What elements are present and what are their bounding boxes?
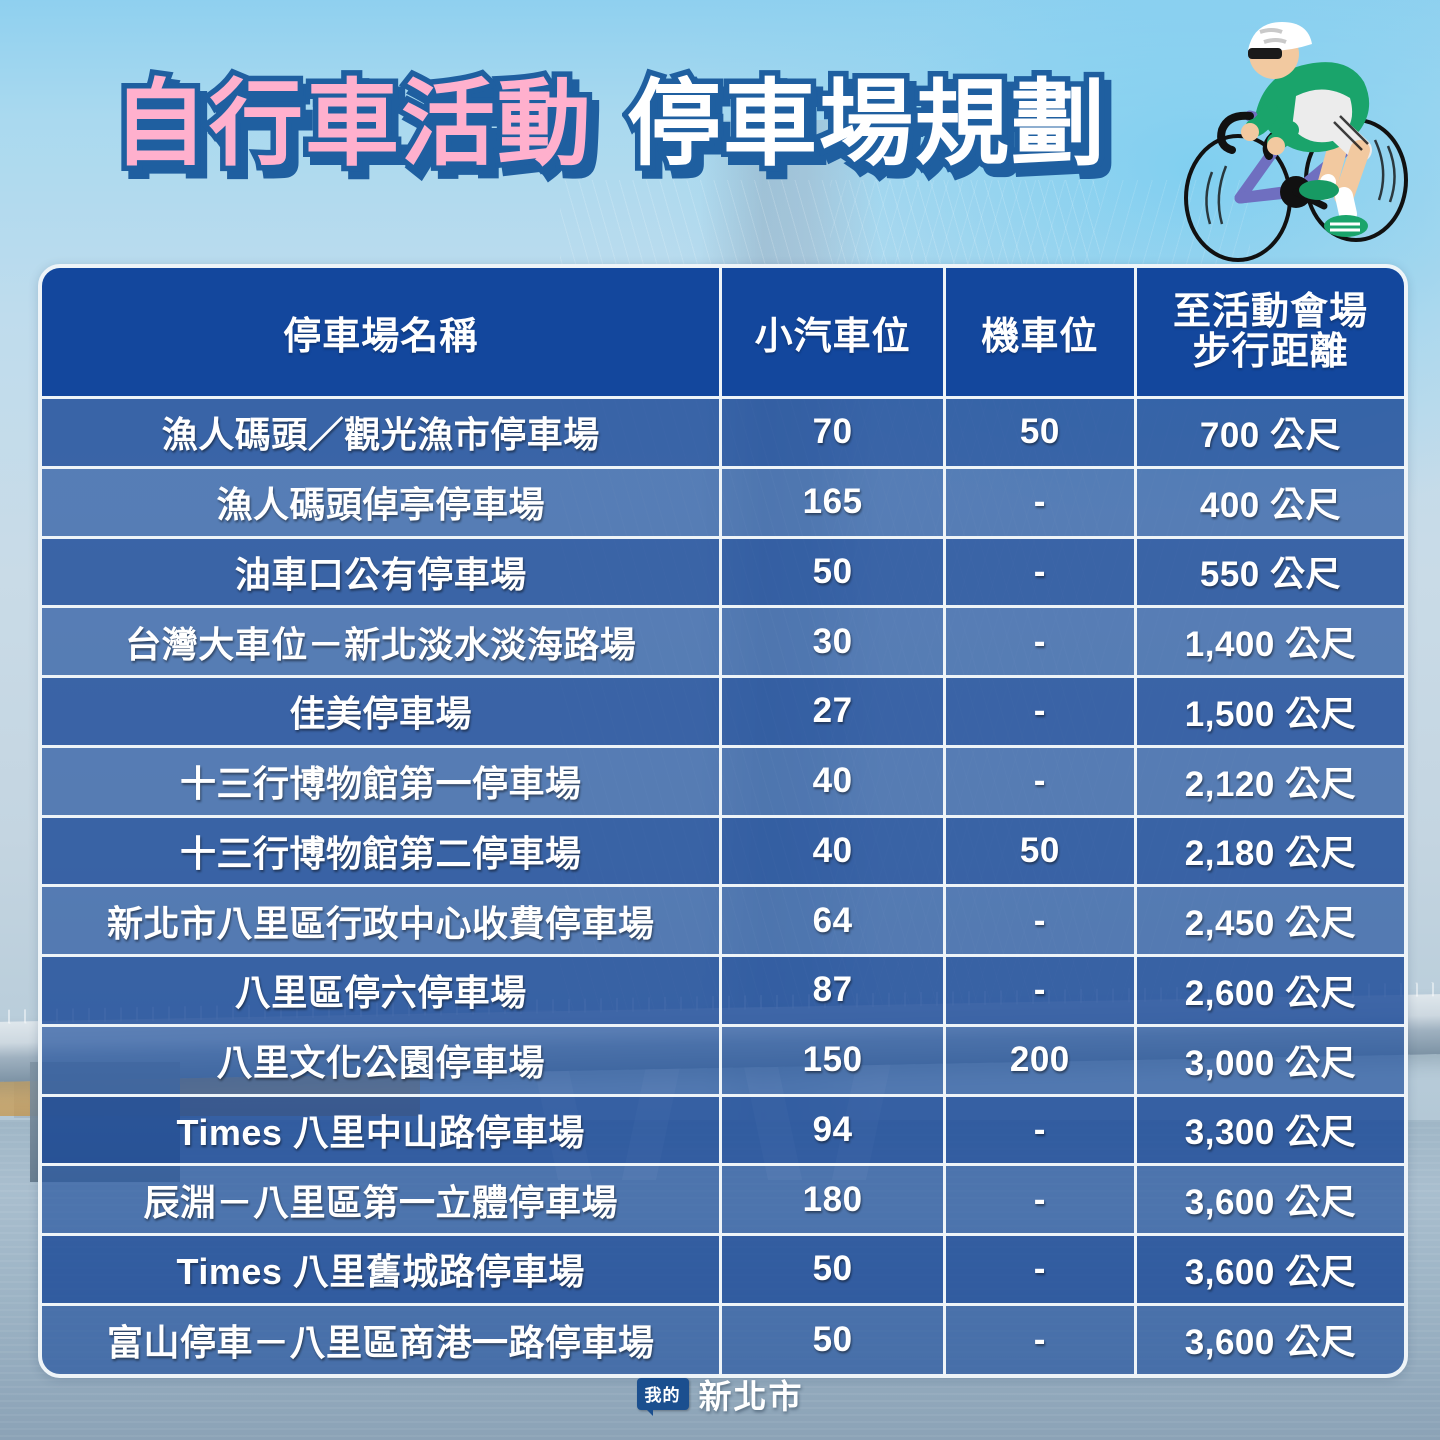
- parking-lot-name: 八里文化公園停車場: [42, 1025, 721, 1095]
- motorcycle-space-count: 200: [944, 1025, 1135, 1095]
- motorcycle-space-count: -: [944, 1095, 1135, 1165]
- car-space-count: 87: [721, 956, 944, 1026]
- column-header-name: 停車場名稱: [42, 268, 721, 398]
- walking-distance: 3,300 公尺: [1135, 1095, 1404, 1165]
- walking-distance-line2: 步行距離: [1138, 332, 1403, 372]
- car-space-count: 30: [721, 607, 944, 677]
- parking-lot-name: 十三行博物館第一停車場: [42, 746, 721, 816]
- title-part-parking: 停車場規劃: [627, 78, 1107, 172]
- table-header-row: 停車場名稱 小汽車位 機車位 至活動會場 步行距離: [42, 268, 1404, 398]
- parking-lot-table: 停車場名稱 小汽車位 機車位 至活動會場 步行距離 漁人碼頭／觀光漁市停車場70…: [38, 264, 1408, 1378]
- parking-lot-name: 十三行博物館第二停車場: [42, 816, 721, 886]
- column-header-motorcycle-spaces: 機車位: [944, 268, 1135, 398]
- table-row: 漁人碼頭倬亭停車場165-400 公尺: [42, 467, 1404, 537]
- walking-distance: 2,180 公尺: [1135, 816, 1404, 886]
- parking-lot-name: 台灣大車位－新北淡水淡海路場: [42, 607, 721, 677]
- table-row: 八里文化公園停車場1502003,000 公尺: [42, 1025, 1404, 1095]
- table-row: 新北市八里區行政中心收費停車場64-2,450 公尺: [42, 886, 1404, 956]
- table-row: 富山停車－八里區商港一路停車場50-3,600 公尺: [42, 1304, 1404, 1374]
- column-header-walking-distance: 至活動會場 步行距離: [1135, 268, 1404, 398]
- motorcycle-space-count: -: [944, 607, 1135, 677]
- motorcycle-space-count: -: [944, 1235, 1135, 1305]
- city-logo: 我的 新北市: [0, 1370, 1440, 1418]
- car-space-count: 94: [721, 1095, 944, 1165]
- parking-lot-name: 辰淵－八里區第一立體停車場: [42, 1165, 721, 1235]
- walking-distance: 2,600 公尺: [1135, 956, 1404, 1026]
- car-space-count: 165: [721, 467, 944, 537]
- car-space-count: 27: [721, 677, 944, 747]
- table-body: 漁人碼頭／觀光漁市停車場7050700 公尺漁人碼頭倬亭停車場165-400 公…: [42, 398, 1404, 1375]
- car-space-count: 64: [721, 886, 944, 956]
- motorcycle-space-count: 50: [944, 816, 1135, 886]
- motorcycle-space-count: 50: [944, 398, 1135, 468]
- parking-lot-name: Times 八里中山路停車場: [42, 1095, 721, 1165]
- table-row: 佳美停車場27-1,500 公尺: [42, 677, 1404, 747]
- walking-distance: 3,600 公尺: [1135, 1165, 1404, 1235]
- car-space-count: 50: [721, 537, 944, 607]
- table-row: Times 八里舊城路停車場50-3,600 公尺: [42, 1235, 1404, 1305]
- table-row: Times 八里中山路停車場94-3,300 公尺: [42, 1095, 1404, 1165]
- car-space-count: 70: [721, 398, 944, 468]
- column-header-car-spaces: 小汽車位: [721, 268, 944, 398]
- table-row: 台灣大車位－新北淡水淡海路場30-1,400 公尺: [42, 607, 1404, 677]
- table-row: 辰淵－八里區第一立體停車場180-3,600 公尺: [42, 1165, 1404, 1235]
- walking-distance: 1,400 公尺: [1135, 607, 1404, 677]
- car-space-count: 40: [721, 746, 944, 816]
- walking-distance: 550 公尺: [1135, 537, 1404, 607]
- motorcycle-space-count: -: [944, 956, 1135, 1026]
- parking-lot-name: 漁人碼頭／觀光漁市停車場: [42, 398, 721, 468]
- parking-lot-name: 佳美停車場: [42, 677, 721, 747]
- car-space-count: 50: [721, 1235, 944, 1305]
- table-row: 八里區停六停車場87-2,600 公尺: [42, 956, 1404, 1026]
- parking-lot-name: Times 八里舊城路停車場: [42, 1235, 721, 1305]
- walking-distance: 400 公尺: [1135, 467, 1404, 537]
- motorcycle-space-count: -: [944, 677, 1135, 747]
- motorcycle-space-count: -: [944, 467, 1135, 537]
- walking-distance: 700 公尺: [1135, 398, 1404, 468]
- parking-lot-name: 油車口公有停車場: [42, 537, 721, 607]
- car-space-count: 180: [721, 1165, 944, 1235]
- parking-lot-name: 新北市八里區行政中心收費停車場: [42, 886, 721, 956]
- title-part-activity: 自行車活動: [113, 78, 593, 172]
- motorcycle-space-count: -: [944, 537, 1135, 607]
- walking-distance: 2,450 公尺: [1135, 886, 1404, 956]
- table-row: 漁人碼頭／觀光漁市停車場7050700 公尺: [42, 398, 1404, 468]
- table-row: 十三行博物館第二停車場40502,180 公尺: [42, 816, 1404, 886]
- car-space-count: 50: [721, 1304, 944, 1374]
- car-space-count: 40: [721, 816, 944, 886]
- motorcycle-space-count: -: [944, 886, 1135, 956]
- motorcycle-space-count: -: [944, 1304, 1135, 1374]
- logo-badge: 我的: [637, 1378, 689, 1410]
- motorcycle-space-count: -: [944, 1165, 1135, 1235]
- walking-distance: 1,500 公尺: [1135, 677, 1404, 747]
- table-row: 油車口公有停車場50-550 公尺: [42, 537, 1404, 607]
- walking-distance: 3,600 公尺: [1135, 1235, 1404, 1305]
- parking-lot-name: 漁人碼頭倬亭停車場: [42, 467, 721, 537]
- page-title: 自行車活動 停車場規劃: [0, 60, 1220, 190]
- parking-lot-name: 八里區停六停車場: [42, 956, 721, 1026]
- parking-lot-name: 富山停車－八里區商港一路停車場: [42, 1304, 721, 1374]
- walking-distance: 2,120 公尺: [1135, 746, 1404, 816]
- logo-city-name: 新北市: [699, 1370, 804, 1418]
- motorcycle-space-count: -: [944, 746, 1135, 816]
- cyclist-illustration: [1178, 0, 1440, 270]
- walking-distance: 3,600 公尺: [1135, 1304, 1404, 1374]
- walking-distance: 3,000 公尺: [1135, 1025, 1404, 1095]
- walking-distance-line1: 至活動會場: [1138, 292, 1403, 332]
- table-row: 十三行博物館第一停車場40-2,120 公尺: [42, 746, 1404, 816]
- car-space-count: 150: [721, 1025, 944, 1095]
